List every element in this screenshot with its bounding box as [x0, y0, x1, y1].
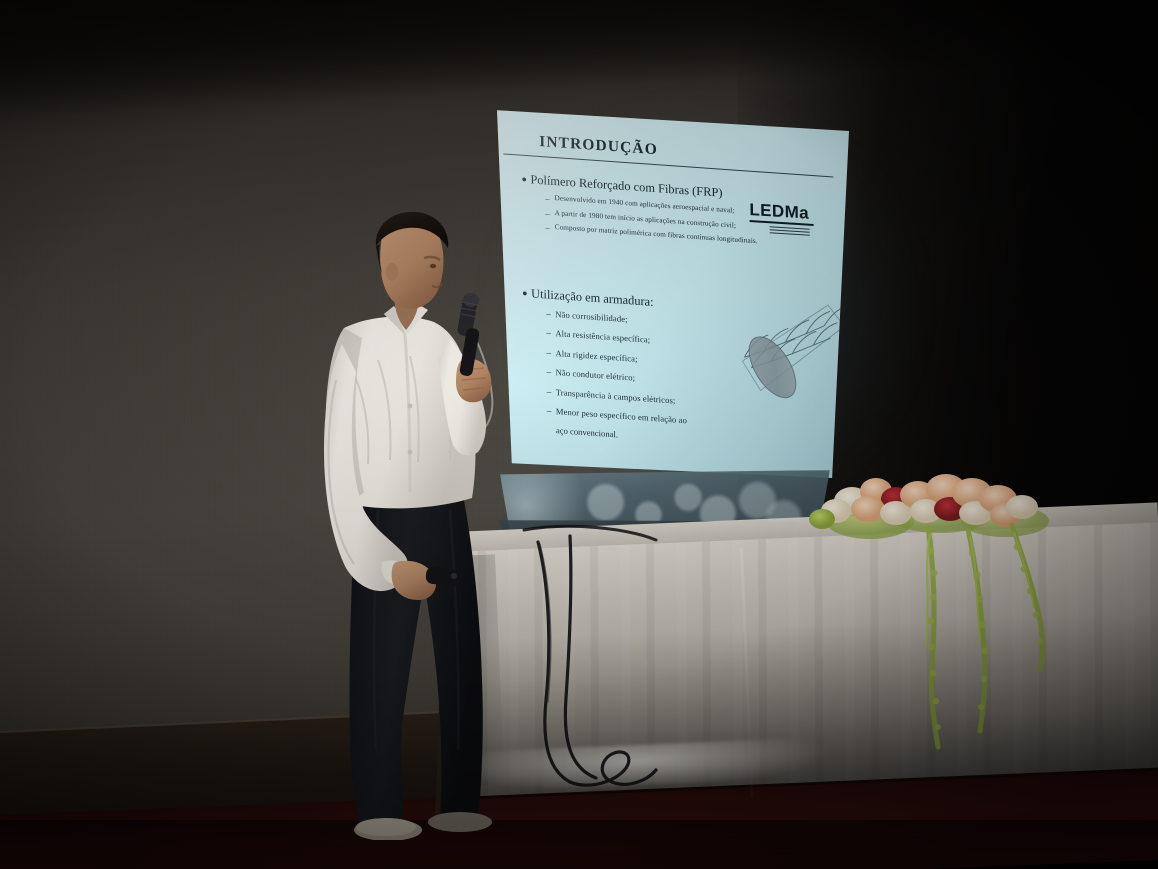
- photo-vignette: [0, 0, 1158, 869]
- presentation-photo-scene: INTRODUÇÃO LEDMa ● Polímero Reforçado co…: [0, 0, 1158, 869]
